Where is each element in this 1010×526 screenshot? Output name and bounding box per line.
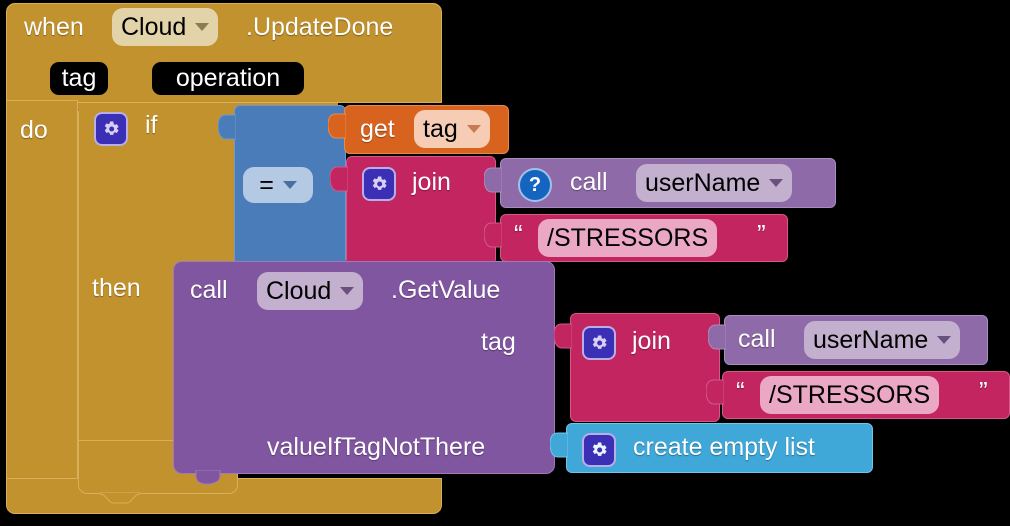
get-value-socket-label-tag: tag	[481, 330, 516, 355]
call-username-dropdown-1[interactable]: userName	[636, 164, 792, 202]
then-keyword-label: then	[92, 276, 141, 301]
event-component-name: Cloud	[121, 15, 186, 40]
chevron-down-icon	[283, 181, 297, 189]
get-value-call-keyword: call	[190, 278, 228, 303]
text-block-2-value-field[interactable]: /STRESSORS	[760, 376, 939, 414]
compare-operator-label: =	[259, 173, 274, 198]
get-variable-output-plug	[328, 112, 346, 146]
text-block-1-open-quote: “	[514, 221, 523, 247]
create-empty-list-output-plug	[550, 431, 568, 465]
event-param-operation-label: operation	[176, 66, 280, 91]
call-username-dropdown-2[interactable]: userName	[804, 321, 960, 359]
question-mark-icon[interactable]: ?	[518, 168, 552, 202]
event-block-left-spine	[6, 100, 78, 490]
create-empty-list-mutator-gear-icon[interactable]	[582, 433, 616, 467]
call-username-name-2: userName	[813, 328, 928, 353]
compare-block-output-plug	[218, 113, 236, 147]
get-variable-name: tag	[423, 117, 458, 142]
compare-operator-dropdown[interactable]: =	[243, 167, 313, 203]
text-block-2-open-quote: “	[736, 378, 745, 404]
join-block-1-label: join	[412, 170, 451, 195]
blocks-canvas[interactable]: when Cloud .UpdateDone tag operation do …	[0, 0, 1010, 526]
text-block-1-value: /STRESSORS	[547, 226, 708, 251]
text-block-2-output-plug	[706, 378, 724, 412]
text-block-2-close-quote: ”	[979, 378, 988, 404]
event-param-operation[interactable]: operation	[152, 62, 304, 95]
call-keyword-label-2: call	[738, 327, 776, 352]
call-username-block-1-output-plug	[484, 166, 502, 200]
call-username-name-1: userName	[645, 171, 760, 196]
create-empty-list-label: create empty list	[633, 435, 815, 460]
join-block-1-output-plug	[330, 165, 348, 199]
get-value-component-dropdown[interactable]: Cloud	[257, 272, 363, 310]
join-block-2-mutator-gear-icon[interactable]	[582, 326, 616, 360]
event-param-tag-label: tag	[62, 66, 97, 91]
text-block-1-output-plug	[484, 221, 502, 255]
event-name-label: .UpdateDone	[246, 15, 393, 40]
event-do-label: do	[20, 118, 48, 143]
event-param-tag[interactable]: tag	[50, 62, 108, 95]
chevron-down-icon	[937, 336, 951, 344]
join-block-1-mutator-gear-icon[interactable]	[362, 167, 396, 201]
text-block-1-close-quote: ”	[757, 221, 766, 247]
event-component-dropdown[interactable]: Cloud	[112, 8, 218, 46]
get-value-output-plug	[194, 470, 228, 486]
if-block-mutator-gear-icon[interactable]	[94, 112, 128, 146]
get-value-socket-label-valueiftagnotthere: valueIfTagNotThere	[267, 435, 485, 460]
text-block-1-value-field[interactable]: /STRESSORS	[538, 219, 717, 257]
get-variable-dropdown[interactable]: tag	[414, 110, 490, 148]
chevron-down-icon	[195, 23, 209, 31]
if-keyword-label: if	[145, 113, 158, 138]
get-value-method-name: .GetValue	[391, 278, 500, 303]
question-mark-glyph: ?	[529, 175, 541, 195]
call-keyword-label-1: call	[570, 170, 608, 195]
get-value-component-name: Cloud	[266, 279, 331, 304]
chevron-down-icon	[340, 287, 354, 295]
join-block-2-output-plug	[554, 322, 572, 356]
get-keyword-label: get	[360, 117, 395, 142]
call-username-block-2-output-plug	[708, 323, 726, 357]
text-block-2-value: /STRESSORS	[769, 383, 930, 408]
join-block-2-label: join	[632, 329, 671, 354]
if-block-bottom-notch	[100, 492, 140, 506]
chevron-down-icon	[769, 179, 783, 187]
chevron-down-icon	[467, 125, 481, 133]
event-when-label: when	[24, 15, 84, 40]
